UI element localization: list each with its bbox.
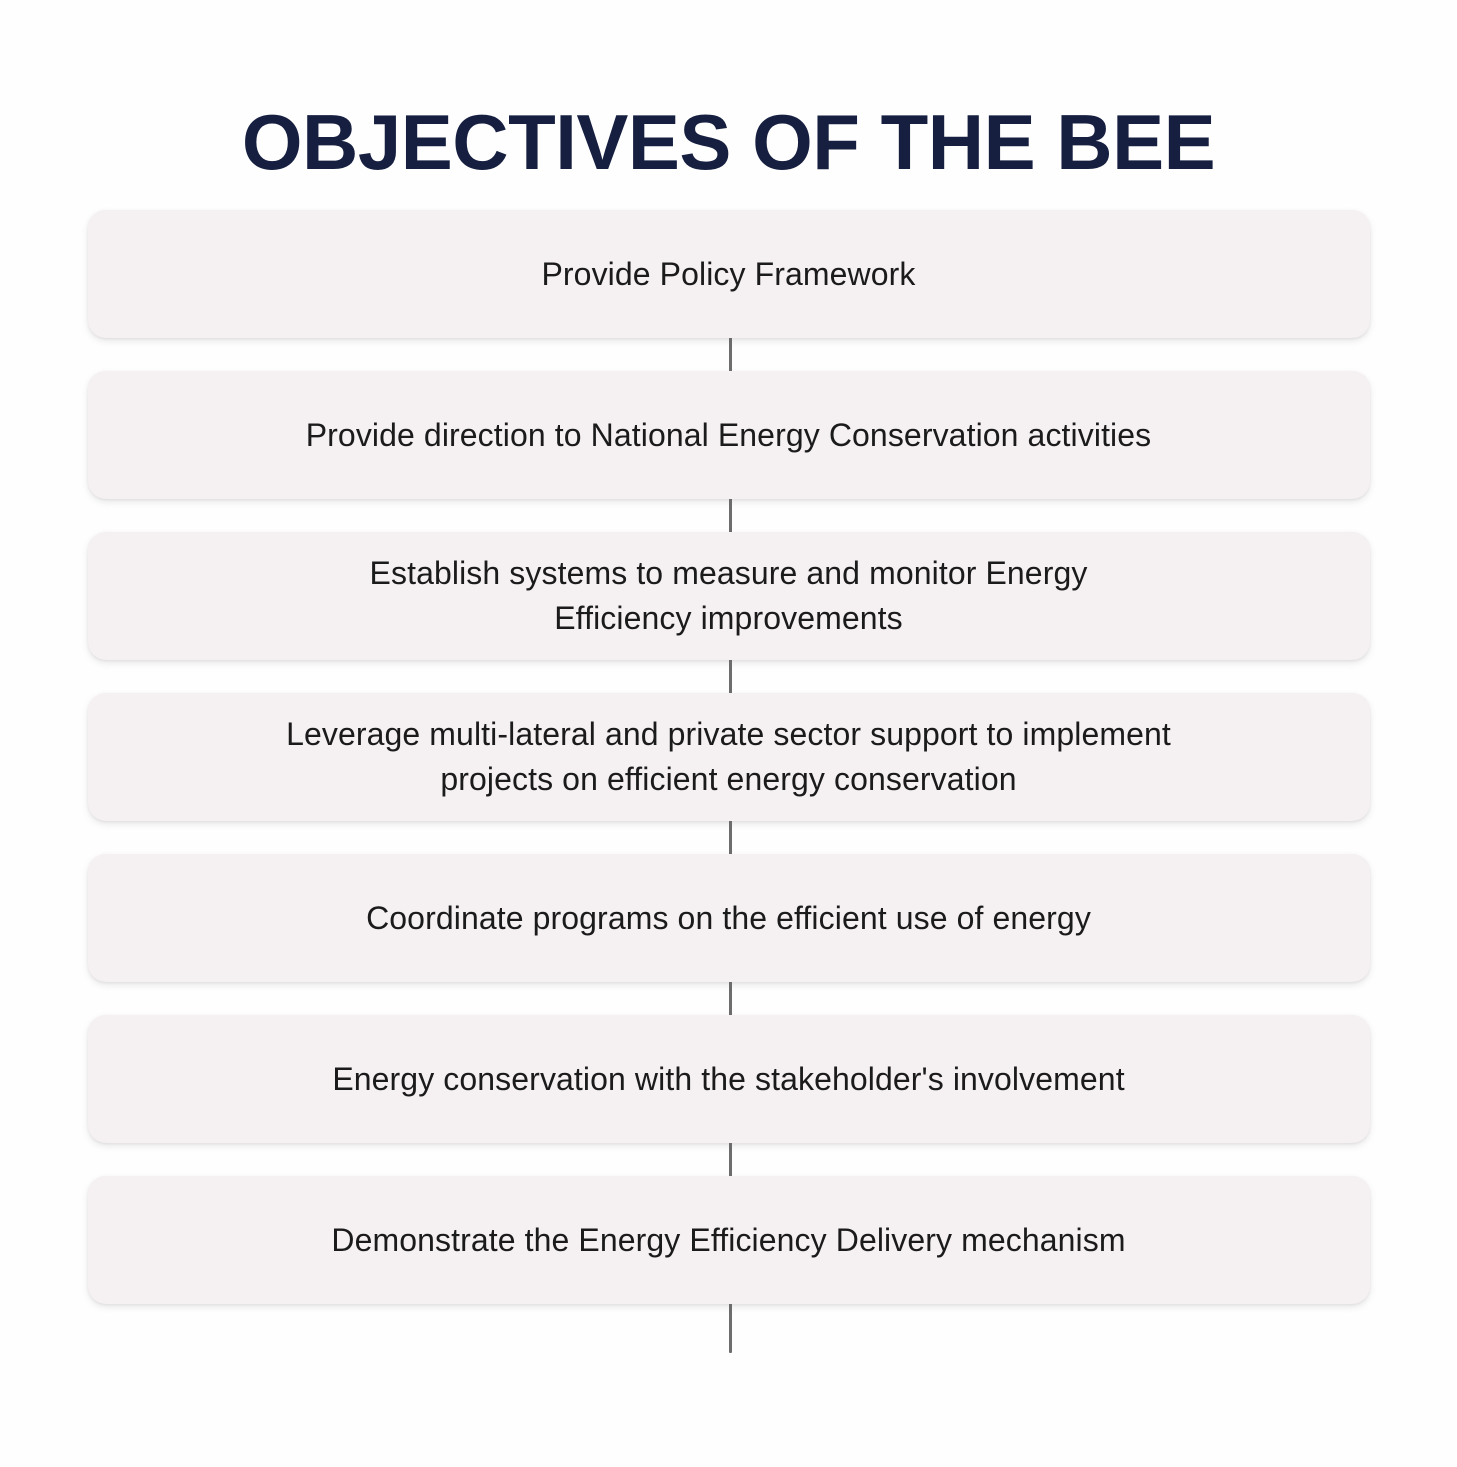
objective-card-label: Energy conservation with the stakeholder… bbox=[332, 1057, 1124, 1102]
objective-card-5[interactable]: Coordinate programs on the efficient use… bbox=[88, 854, 1370, 982]
objective-card-1[interactable]: Provide Policy Framework bbox=[88, 210, 1370, 338]
objectives-flow-diagram: Provide Policy Framework Provide directi… bbox=[0, 210, 1457, 1370]
page-title: OBJECTIVES OF THE BEE bbox=[0, 96, 1457, 188]
objective-card-label: Provide Policy Framework bbox=[541, 252, 915, 297]
objective-card-7[interactable]: Demonstrate the Energy Efficiency Delive… bbox=[88, 1176, 1370, 1304]
objective-card-3[interactable]: Establish systems to measure and monitor… bbox=[88, 532, 1370, 660]
objective-card-4[interactable]: Leverage multi-lateral and private secto… bbox=[88, 693, 1370, 821]
objective-card-2[interactable]: Provide direction to National Energy Con… bbox=[88, 371, 1370, 499]
objective-card-label: Coordinate programs on the efficient use… bbox=[366, 896, 1091, 941]
objective-card-6[interactable]: Energy conservation with the stakeholder… bbox=[88, 1015, 1370, 1143]
objective-card-label: Demonstrate the Energy Efficiency Delive… bbox=[331, 1218, 1125, 1263]
objective-card-list: Provide Policy Framework Provide directi… bbox=[0, 210, 1457, 1304]
objective-card-label: Provide direction to National Energy Con… bbox=[306, 413, 1152, 458]
objective-card-label: Establish systems to measure and monitor… bbox=[370, 551, 1088, 641]
diagram-page: OBJECTIVES OF THE BEE Provide Policy Fra… bbox=[0, 0, 1457, 1467]
objective-card-label: Leverage multi-lateral and private secto… bbox=[286, 712, 1171, 802]
